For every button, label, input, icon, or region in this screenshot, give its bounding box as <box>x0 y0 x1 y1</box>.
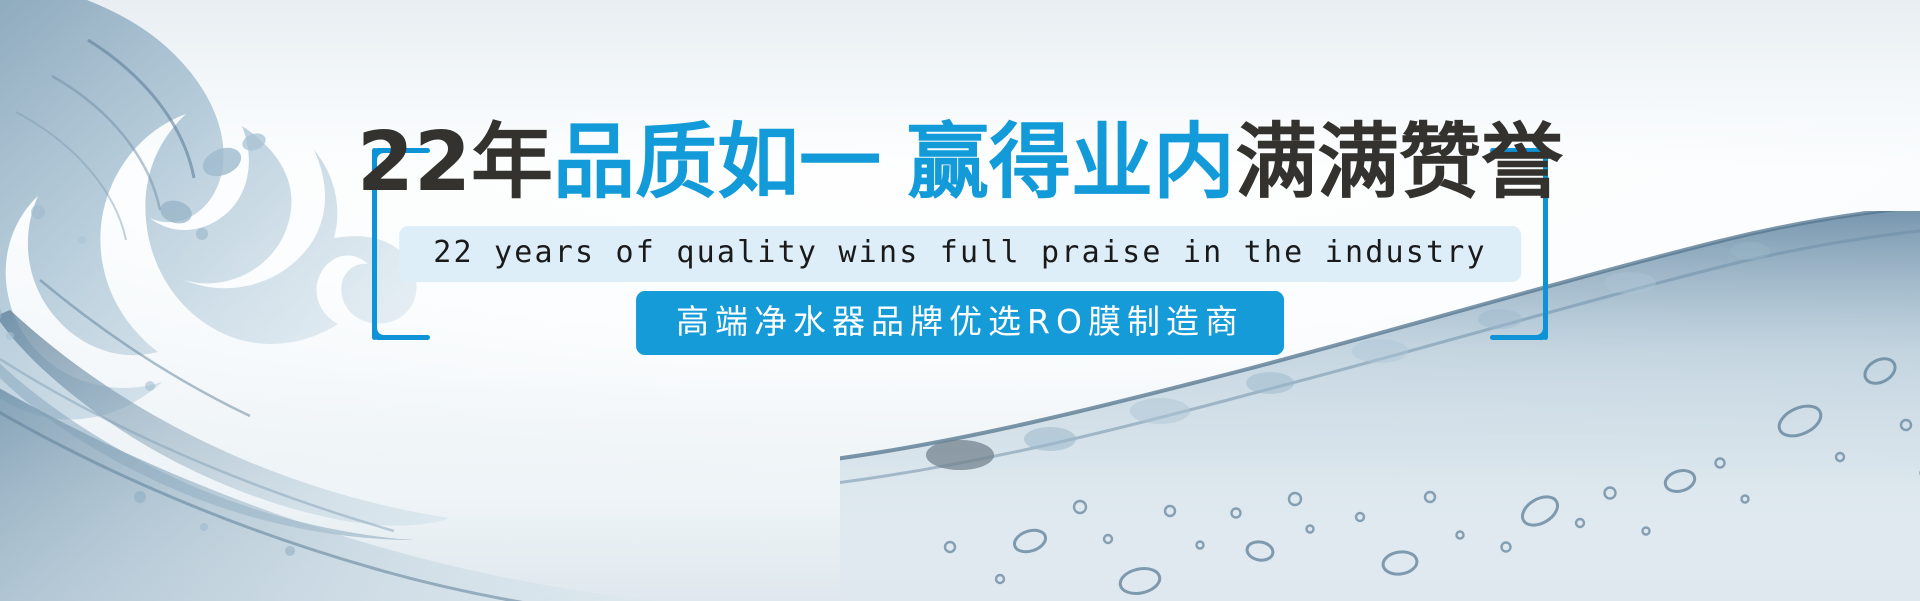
headline-part-industry: 赢得业内 <box>907 115 1235 210</box>
headline-part-years: 22年 <box>357 115 553 210</box>
promo-banner: 22年品质如一赢得业内满满赞誉 22 years of quality wins… <box>0 0 1920 601</box>
banner-tagline-badge: 高端净水器品牌优选RO膜制造商 <box>636 291 1284 355</box>
headline-part-quality: 品质如一 <box>553 115 881 210</box>
headline-part-praise: 满满赞誉 <box>1235 115 1563 210</box>
banner-headline: 22年品质如一赢得业内满满赞誉 <box>0 118 1920 208</box>
banner-subtitle-english: 22 years of quality wins full praise in … <box>399 226 1521 282</box>
banner-content: 22年品质如一赢得业内满满赞誉 22 years of quality wins… <box>0 0 1920 601</box>
